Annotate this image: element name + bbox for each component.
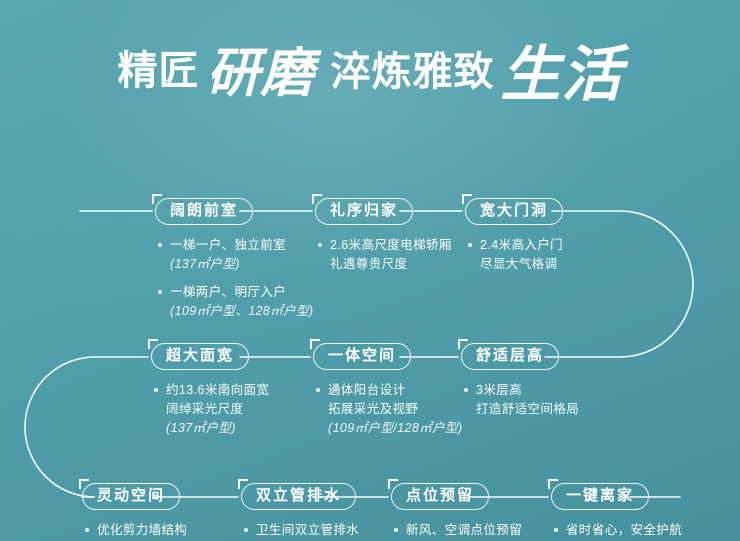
bullet-line: 2.4米高入户门 xyxy=(480,238,563,252)
list-item: 约13.6米南向面宽 阔绰采光尺度 (137㎡户型) xyxy=(151,381,269,438)
connector-right-loop xyxy=(545,211,693,357)
bullet-note: (137㎡户型) xyxy=(166,419,269,438)
list-item: 2.6米高尺度电梯轿厢 礼遇尊贵尺度 xyxy=(315,236,452,274)
headline-segment-3: 淬炼雅致 xyxy=(331,52,495,92)
list-item: 优化剪力墙结构 实现空间多变 xyxy=(82,521,187,541)
bullet-line: 3米层高 xyxy=(476,383,522,397)
feature-bullet-list: 卫生间双立管排水 有效防止异味 xyxy=(241,521,359,541)
feature-card-shushicenggao[interactable]: 舒适层高 3米层高 打造舒适空间格局 xyxy=(461,343,579,428)
feature-bullet-list: 一梯一户、独立前室 (137㎡户型) 一梯两户、明厅入户 (109㎡户型、128… xyxy=(155,236,314,321)
list-item: 新风、空调点位预留 便于后期装修 xyxy=(391,521,522,541)
feature-bullet-list: 3米层高 打造舒适空间格局 xyxy=(461,381,579,419)
bullet-line: 优化剪力墙结构 xyxy=(97,523,187,537)
bullet-sub: 打造舒适空间格局 xyxy=(476,400,579,419)
bullet-line: 省时省心，安全护航 xyxy=(566,523,682,537)
feature-card-shuanglihuanpaishui[interactable]: 双立管排水 卫生间双立管排水 有效防止异味 xyxy=(241,483,359,541)
list-item: 3米层高 打造舒适空间格局 xyxy=(461,381,579,419)
headline-segment-4: 生活 xyxy=(501,45,623,105)
feature-card-kuandamendong[interactable]: 宽大门洞 2.4米高入户门 尽显大气格调 xyxy=(465,198,563,283)
feature-title-chip: 超大面宽 xyxy=(151,343,249,370)
list-item: 一梯两户、明厅入户 (109㎡户型、128㎡户型) xyxy=(155,283,314,321)
feature-bullet-list: 2.6米高尺度电梯轿厢 礼遇尊贵尺度 xyxy=(315,236,452,274)
feature-title-chip: 灵动空间 xyxy=(82,483,180,510)
bullet-sub: 拓展采光及视野 xyxy=(328,400,463,419)
feature-card-yijianlijia[interactable]: 一键离家 省时省心，安全护航 xyxy=(551,483,682,541)
list-item: 一梯一户、独立前室 (137㎡户型) xyxy=(155,236,314,274)
feature-bullet-list: 2.4米高入户门 尽显大气格调 xyxy=(465,236,563,274)
list-item: 通体阳台设计 拓展采光及视野 (109㎡户型/128㎡户型) xyxy=(313,381,463,438)
feature-bullet-list: 约13.6米南向面宽 阔绰采光尺度 (137㎡户型) xyxy=(151,381,269,438)
connector-left-loop xyxy=(25,357,148,497)
bullet-line: 2.6米高尺度电梯轿厢 xyxy=(330,238,452,252)
feature-bullet-list: 优化剪力墙结构 实现空间多变 xyxy=(82,521,187,541)
feature-bullet-list: 新风、空调点位预留 便于后期装修 xyxy=(391,521,522,541)
bullet-note: (109㎡户型/128㎡户型) xyxy=(328,419,463,438)
list-item: 2.4米高入户门 尽显大气格调 xyxy=(465,236,563,274)
feature-card-yitikongjian[interactable]: 一体空间 通体阳台设计 拓展采光及视野 (109㎡户型/128㎡户型) xyxy=(313,343,463,447)
feature-bullet-list: 通体阳台设计 拓展采光及视野 (109㎡户型/128㎡户型) xyxy=(313,381,463,438)
headline-segment-1: 精匠 xyxy=(118,51,200,91)
feature-title-chip: 阔朗前室 xyxy=(155,198,253,225)
feature-card-lixuguijia[interactable]: 礼序归家 2.6米高尺度电梯轿厢 礼遇尊贵尺度 xyxy=(315,198,452,283)
bullet-line: 约13.6米南向面宽 xyxy=(166,383,269,397)
feature-card-dianweiyuliu[interactable]: 点位预留 新风、空调点位预留 便于后期装修 xyxy=(391,483,522,541)
feature-title-chip: 双立管排水 xyxy=(241,483,356,510)
bullet-line: 一梯一户、独立前室 xyxy=(170,238,286,252)
feature-card-chaodamiankuan[interactable]: 超大面宽 约13.6米南向面宽 阔绰采光尺度 (137㎡户型) xyxy=(151,343,269,447)
bullet-note: (109㎡户型、128㎡户型) xyxy=(170,302,314,321)
feature-title-chip: 点位预留 xyxy=(391,483,489,510)
feature-card-kuolangqianshi[interactable]: 阔朗前室 一梯一户、独立前室 (137㎡户型) 一梯两户、明厅入户 (109㎡户… xyxy=(155,198,314,330)
bullet-line: 通体阳台设计 xyxy=(328,383,405,397)
feature-title-chip: 一键离家 xyxy=(551,483,649,510)
bullet-line: 一梯两户、明厅入户 xyxy=(170,285,286,299)
feature-title-chip: 礼序归家 xyxy=(315,198,413,225)
list-item: 省时省心，安全护航 xyxy=(551,521,682,540)
feature-title-chip: 舒适层高 xyxy=(461,343,559,370)
bullet-line: 新风、空调点位预留 xyxy=(406,523,522,537)
feature-title-chip: 宽大门洞 xyxy=(465,198,563,225)
list-item: 卫生间双立管排水 有效防止异味 xyxy=(241,521,359,541)
feature-title-chip: 一体空间 xyxy=(313,343,411,370)
bullet-line: 卫生间双立管排水 xyxy=(256,523,359,537)
headline-segment-2: 研磨 xyxy=(207,47,315,100)
bullet-sub: 尽显大气格调 xyxy=(480,255,563,274)
bullet-note: (137㎡户型) xyxy=(170,255,314,274)
feature-card-lingdongkongjian[interactable]: 灵动空间 优化剪力墙结构 实现空间多变 xyxy=(82,483,187,541)
bullet-sub: 礼遇尊贵尺度 xyxy=(330,255,452,274)
feature-bullet-list: 省时省心，安全护航 xyxy=(551,521,682,540)
poster-root: 精匠研磨淬炼雅致生活 阔朗前室 一梯一户 xyxy=(0,0,740,541)
bullet-sub: 阔绰采光尺度 xyxy=(166,400,269,419)
page-title: 精匠研磨淬炼雅致生活 xyxy=(0,38,740,130)
